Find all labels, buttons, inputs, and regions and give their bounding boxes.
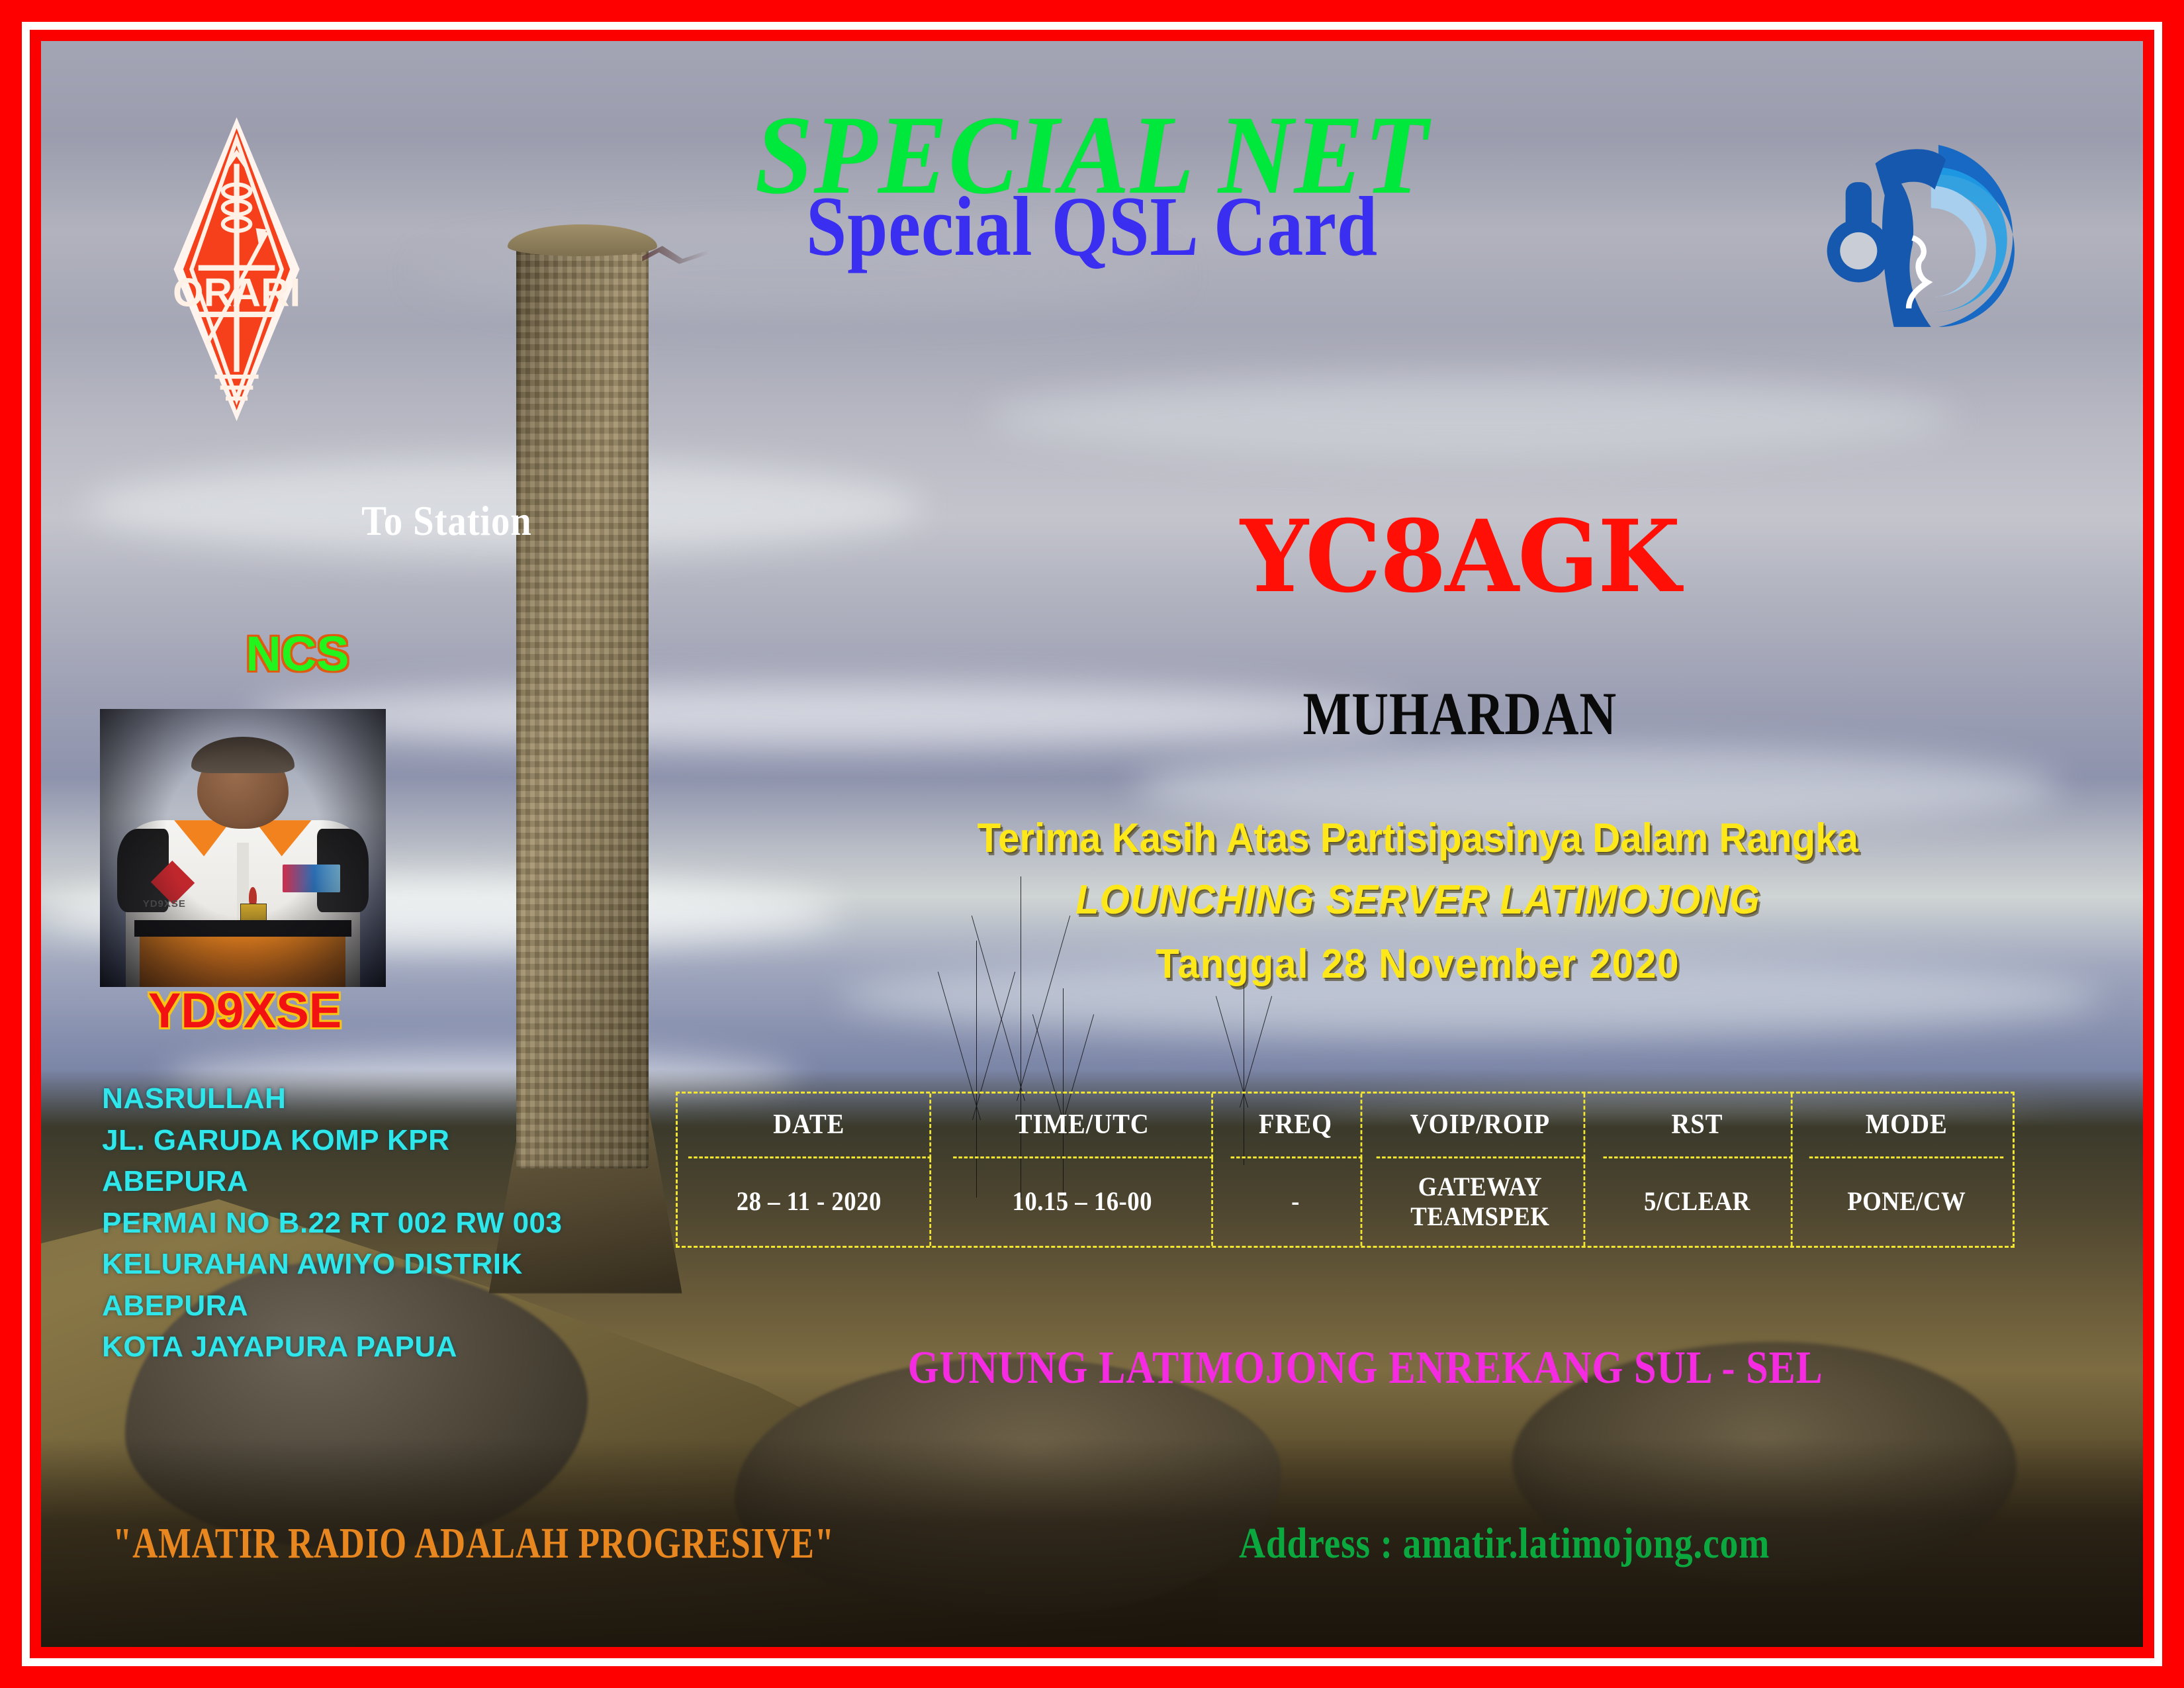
photo-vignette — [100, 709, 386, 987]
card-background-photo: ORARI — [41, 41, 2143, 1647]
address-line: PERMAI NO B.22 RT 002 RW 003 — [102, 1203, 562, 1244]
table-header-rst: RST — [1603, 1094, 1793, 1158]
address-line: KELURAHAN AWIYO DISTRIK — [102, 1244, 562, 1285]
table-header-time: TIME/UTC — [954, 1094, 1214, 1158]
location-label: GUNUNG LATIMOJONG ENREKANG SUL - SEL — [769, 1342, 1962, 1395]
table-cell-voip: GATEWAY TEAMSPEK — [1377, 1158, 1586, 1246]
to-station-label: To Station — [361, 497, 531, 545]
table-cell-mode: PONE/CW — [1809, 1158, 2004, 1246]
table-cell-date: 28 – 11 - 2020 — [688, 1158, 931, 1246]
qso-table: DATE TIME/UTC FREQ VOIP/ROIP RST MODE 28… — [676, 1092, 2015, 1248]
operator-name: MUHARDAN — [1001, 683, 1919, 744]
web-address: Address : amatir.latimojong.com — [1239, 1519, 1770, 1569]
thanks-line-2: LOUNCHING SERVER LATIMOJONG — [786, 876, 2050, 923]
card-content-layer: ORARI — [41, 41, 2143, 1647]
table-header-voip: VOIP/ROIP — [1377, 1094, 1586, 1158]
address-line: KOTA JAYAPURA PAPUA — [102, 1327, 562, 1368]
table-header-mode: MODE — [1809, 1094, 2004, 1158]
table-cell-time: 10.15 – 16-00 — [954, 1158, 1214, 1246]
address-block: NASRULLAH JL. GARUDA KOMP KPR ABEPURA PE… — [102, 1078, 562, 1368]
address-line: ABEPURA — [102, 1286, 562, 1327]
callsign: YC8AGK — [935, 507, 1984, 606]
ncs-operator-photo: YD9XSE — [100, 709, 386, 987]
thanks-line-1: Terima Kasih Atas Partisipasinya Dalam R… — [786, 815, 2050, 862]
table-header-date: DATE — [688, 1094, 931, 1158]
orari-logo-text: ORARI — [173, 270, 300, 314]
address-line: ABEPURA — [102, 1161, 562, 1202]
qsl-card: ORARI — [0, 0, 2184, 1688]
event-date: Tanggal 28 November 2020 — [786, 941, 2050, 988]
table-cell-freq: - — [1230, 1158, 1361, 1246]
address-line: JL. GARUDA KOMP KPR — [102, 1120, 562, 1161]
ncs-label: NCS — [171, 626, 424, 682]
page-subtitle: Special QSL Card — [188, 184, 1995, 269]
table-header-freq: FREQ — [1230, 1094, 1361, 1158]
table-cell-rst: 5/CLEAR — [1603, 1158, 1793, 1246]
card-border-red-inner: ORARI — [30, 30, 2154, 1658]
ncs-callsign: YD9XSE — [83, 982, 407, 1039]
card-border-white: ORARI — [22, 22, 2162, 1666]
address-line: NASRULLAH — [102, 1078, 562, 1119]
motto-text: "AMATIR RADIO ADALAH PROGRESIVE" — [113, 1519, 835, 1569]
